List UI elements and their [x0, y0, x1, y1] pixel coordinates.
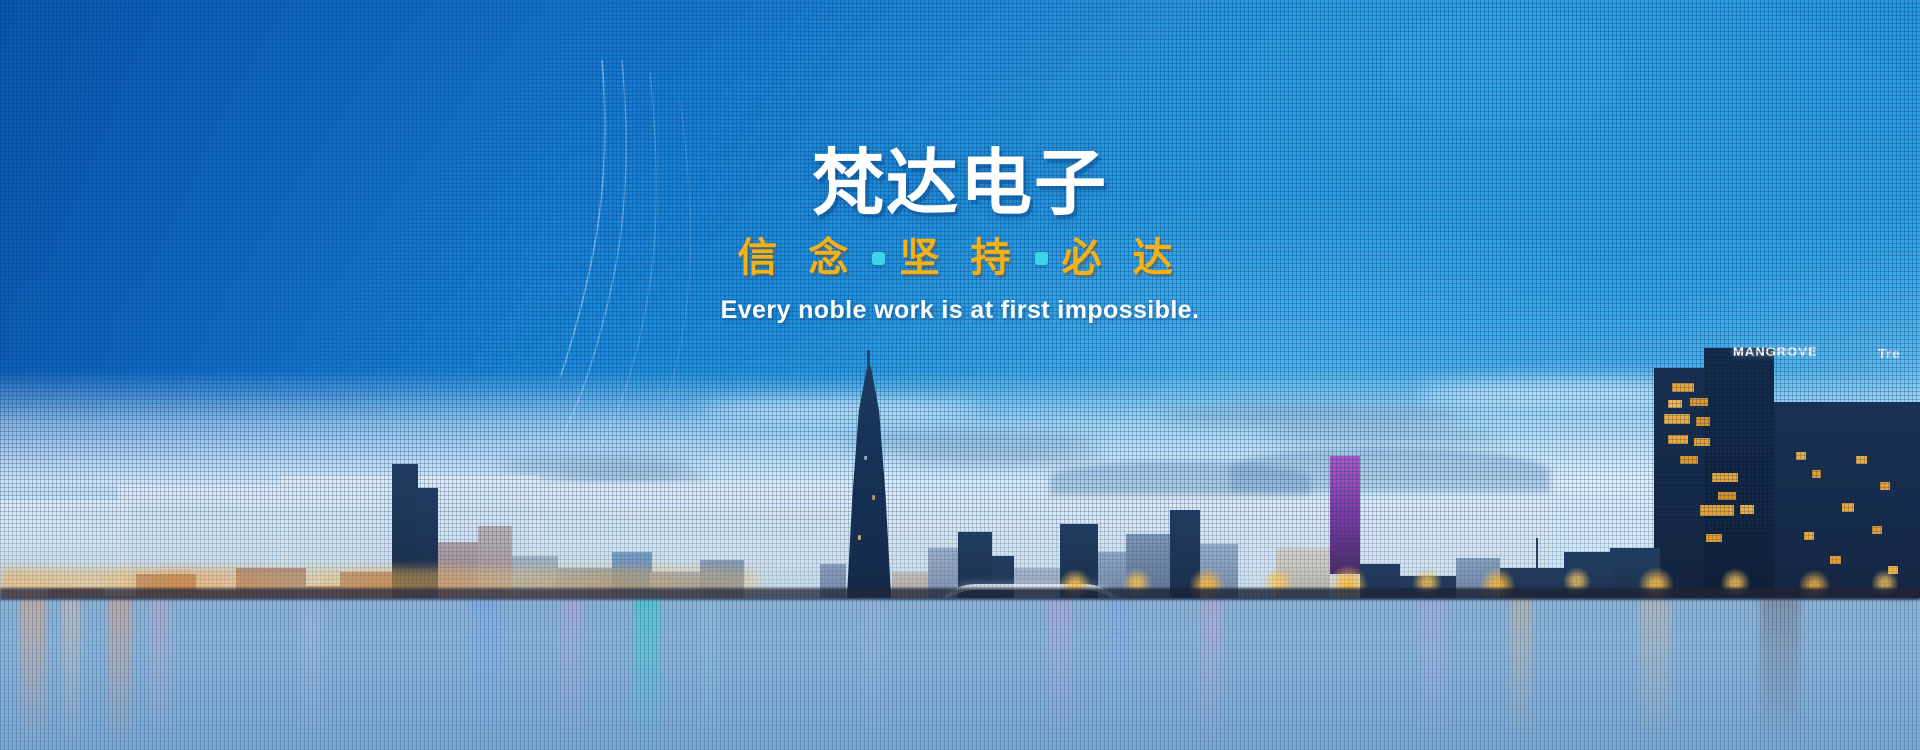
water-surface	[0, 598, 1920, 750]
window-light	[1830, 556, 1841, 564]
antenna-mast	[1536, 538, 1538, 568]
window-light	[1672, 383, 1694, 392]
tower-window-light	[858, 535, 861, 540]
window-light	[1812, 470, 1821, 478]
window-light	[1664, 414, 1690, 424]
water-reflection	[634, 598, 660, 750]
window-light	[1888, 566, 1898, 574]
slogan-separator-dot-icon	[1035, 252, 1048, 265]
window-light	[1696, 417, 1710, 426]
water-reflection	[108, 598, 132, 750]
window-light	[1842, 503, 1854, 512]
water-reflection	[470, 598, 500, 750]
tower-spire	[867, 350, 870, 368]
building-sign-mangrove: MANGROVE	[1733, 344, 1818, 359]
banner-copy: 梵达电子 信 念 坚 持 必 达 Every noble work is at …	[0, 148, 1920, 323]
water-reflection	[1108, 598, 1128, 750]
window-light	[1804, 532, 1814, 540]
building-sign-tre: Tre	[1878, 346, 1901, 361]
water-reflection	[1640, 598, 1670, 750]
window-light	[1706, 534, 1722, 542]
window-light	[1668, 435, 1688, 444]
company-title: 梵达电子	[0, 148, 1920, 220]
water-reflection	[1510, 598, 1532, 750]
window-light	[1712, 473, 1738, 482]
water-reflection	[300, 598, 322, 750]
english-tagline: Every noble work is at first impossible.	[0, 298, 1920, 323]
hero-banner: MANGROVE Tre 梵达电子 信 念 坚 持	[0, 0, 1920, 750]
water-reflection	[1048, 598, 1072, 750]
water-reflection	[1760, 598, 1800, 750]
window-light	[1796, 452, 1806, 460]
tower-window-light	[872, 495, 875, 500]
window-light	[1718, 492, 1736, 500]
water-reflection	[560, 598, 582, 750]
window-light	[1880, 482, 1890, 490]
slogan-part-2: 坚 持	[899, 238, 1020, 278]
window-light	[1740, 505, 1754, 514]
slogan-separator-dot-icon	[872, 252, 885, 265]
window-light	[1700, 505, 1734, 516]
purple-lit-tower	[1330, 456, 1360, 574]
water-reflection	[862, 598, 884, 750]
window-light	[1694, 438, 1710, 446]
distant-hill	[1230, 448, 1550, 492]
tower-window-light	[864, 456, 867, 460]
water-reflection	[150, 598, 170, 750]
supertall-tower	[846, 366, 892, 614]
window-light	[1690, 398, 1708, 406]
window-light	[1856, 456, 1867, 464]
slogan-part-1: 信 念	[737, 238, 858, 278]
water-reflection	[1420, 598, 1446, 750]
water-reflection	[62, 598, 80, 750]
water-reflection	[1200, 598, 1222, 750]
water-reflection	[700, 598, 716, 750]
shoreline-edge	[0, 588, 1920, 600]
slogan-part-3: 必 达	[1062, 238, 1183, 278]
window-light	[1668, 400, 1682, 408]
window-light	[1872, 526, 1882, 534]
company-slogan: 信 念 坚 持 必 达	[0, 238, 1920, 278]
water-reflection	[20, 598, 46, 750]
window-light	[1680, 456, 1698, 464]
